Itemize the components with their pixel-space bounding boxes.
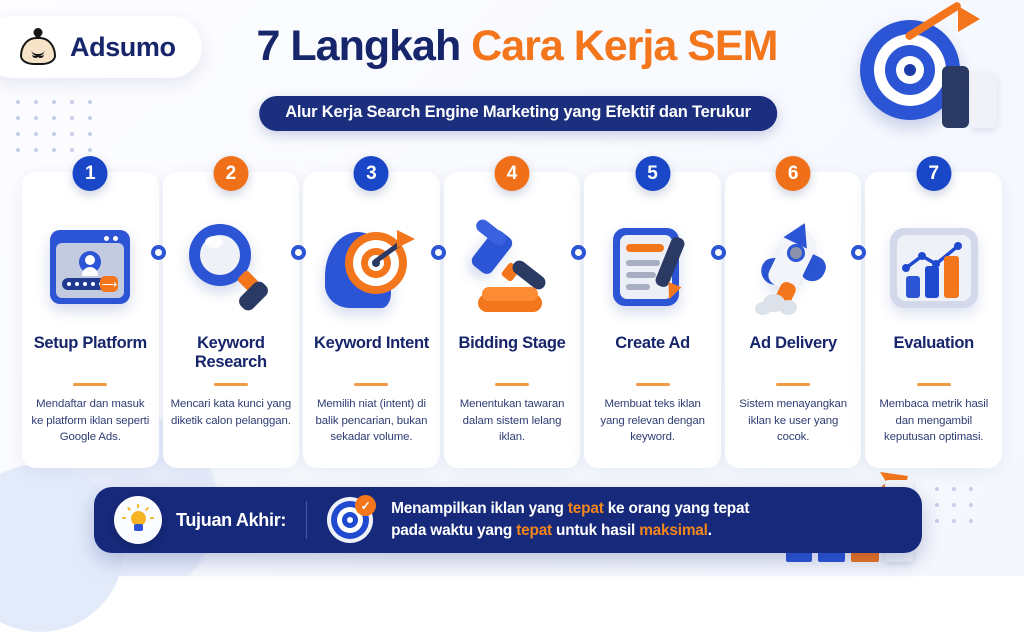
step-title-1: Setup Platform — [34, 334, 147, 374]
steps-row: 1 ⟶ Setup Platform Mendaftar dan masuk k… — [22, 172, 1002, 468]
step-title-2: Keyword Research — [171, 334, 292, 374]
dot — [969, 503, 973, 507]
dot — [52, 116, 56, 120]
goal-line2-c: . — [708, 522, 712, 539]
head-target-icon — [319, 216, 423, 324]
goal-line2-highlight-2: maksimal — [639, 522, 708, 539]
divider-rule — [495, 383, 529, 386]
dot — [88, 148, 92, 152]
step-title-4: Bidding Stage — [459, 334, 566, 374]
step-card-3[interactable]: 3 Keyword Intent Memilih niat (intent) d… — [303, 172, 440, 468]
banner-divider — [306, 501, 307, 539]
step-badge-7: 7 — [916, 156, 951, 191]
dot — [70, 148, 74, 152]
login-screen-icon: ⟶ — [38, 216, 142, 324]
step-desc-1: Mendaftar dan masuk ke platform iklan se… — [30, 396, 151, 446]
step-card-5[interactable]: 5 Create Ad Membuat teks iklan yang rele… — [584, 172, 721, 468]
step-badge-6: 6 — [776, 156, 811, 191]
magnifier-icon — [179, 216, 283, 324]
divider-rule — [776, 383, 810, 386]
infographic-canvas: Adsumo 7 Langkah Cara Kerja SEM Alur Ker… — [0, 0, 1024, 576]
step-desc-5: Membuat teks iklan yang relevan dengan k… — [592, 396, 713, 446]
goal-line2-b: untuk hasil — [552, 522, 639, 539]
divider-rule — [917, 383, 951, 386]
document-pen-icon — [601, 216, 705, 324]
dot — [88, 116, 92, 120]
dot — [70, 100, 74, 104]
step-card-6[interactable]: 6 Ad Delivery Sistem menayangkan iklan k… — [725, 172, 862, 468]
step-desc-4: Menentukan tawaran dalam sistem lelang i… — [452, 396, 573, 446]
step-badge-1: 1 — [73, 156, 108, 191]
divider-rule — [214, 383, 248, 386]
goal-line1-b: ke orang yang tepat — [604, 500, 750, 517]
dot — [88, 100, 92, 104]
step-card-7[interactable]: 7 Evaluation Membaca metrik hasil dan me… — [865, 172, 1002, 468]
step-badge-2: 2 — [213, 156, 248, 191]
step-badge-3: 3 — [354, 156, 389, 191]
step-desc-7: Membaca metrik hasil dan mengambil keput… — [873, 396, 994, 446]
dot — [16, 116, 20, 120]
dot — [16, 132, 20, 136]
dot-grid-decoration-topleft — [16, 100, 106, 164]
dot — [969, 519, 973, 523]
dot — [70, 116, 74, 120]
step-title-3: Keyword Intent — [314, 334, 429, 374]
rocket-icon — [741, 216, 845, 324]
dot — [969, 487, 973, 491]
step-card-2[interactable]: 2 Keyword Research Mencari kata kunci ya… — [163, 172, 300, 468]
title-part-one: 7 Langkah — [257, 22, 472, 70]
gavel-icon — [460, 216, 564, 324]
goal-line1-highlight: tepat — [568, 500, 604, 517]
dot — [34, 100, 38, 104]
dot — [52, 148, 56, 152]
dot — [16, 100, 20, 104]
dot — [34, 116, 38, 120]
target-check-icon: ✓ — [325, 495, 375, 545]
divider-rule — [73, 383, 107, 386]
divider-rule — [636, 383, 670, 386]
step-desc-6: Sistem menayangkan iklan ke user yang co… — [733, 396, 854, 446]
goal-statement: Menampilkan iklan yang tepat ke orang ya… — [391, 498, 749, 542]
divider-rule — [354, 383, 388, 386]
goal-line2-highlight-1: tepat — [516, 522, 552, 539]
bar-chart-icon — [882, 216, 986, 324]
goal-line1-a: Menampilkan iklan yang — [391, 500, 568, 517]
step-card-1[interactable]: 1 ⟶ Setup Platform Mendaftar dan masuk k… — [22, 172, 159, 468]
dot — [16, 148, 20, 152]
dot — [52, 100, 56, 104]
step-badge-4: 4 — [495, 156, 530, 191]
subtitle-pill: Alur Kerja Search Engine Marketing yang … — [259, 96, 777, 131]
lightbulb-icon — [114, 496, 162, 544]
dot — [34, 148, 38, 152]
dot — [88, 132, 92, 136]
dartboard-arrow-icon — [846, 8, 1018, 140]
step-badge-5: 5 — [635, 156, 670, 191]
step-desc-2: Mencari kata kunci yang diketik calon pe… — [171, 396, 292, 429]
dot — [52, 132, 56, 136]
goal-banner: Tujuan Akhir: ✓ Menampilkan iklan yang t… — [94, 487, 922, 553]
title-part-two: Cara Kerja SEM — [471, 22, 777, 70]
step-desc-3: Memilih niat (intent) di balik pencarian… — [311, 396, 432, 446]
dot — [70, 132, 74, 136]
step-title-7: Evaluation — [894, 334, 974, 374]
step-title-6: Ad Delivery — [749, 334, 837, 374]
step-title-5: Create Ad — [615, 334, 690, 374]
dot — [34, 132, 38, 136]
step-card-4[interactable]: 4 Bidding Stage Menentukan tawaran dalam… — [444, 172, 581, 468]
goal-label: Tujuan Akhir: — [176, 510, 286, 531]
goal-line2-a: pada waktu yang — [391, 522, 516, 539]
